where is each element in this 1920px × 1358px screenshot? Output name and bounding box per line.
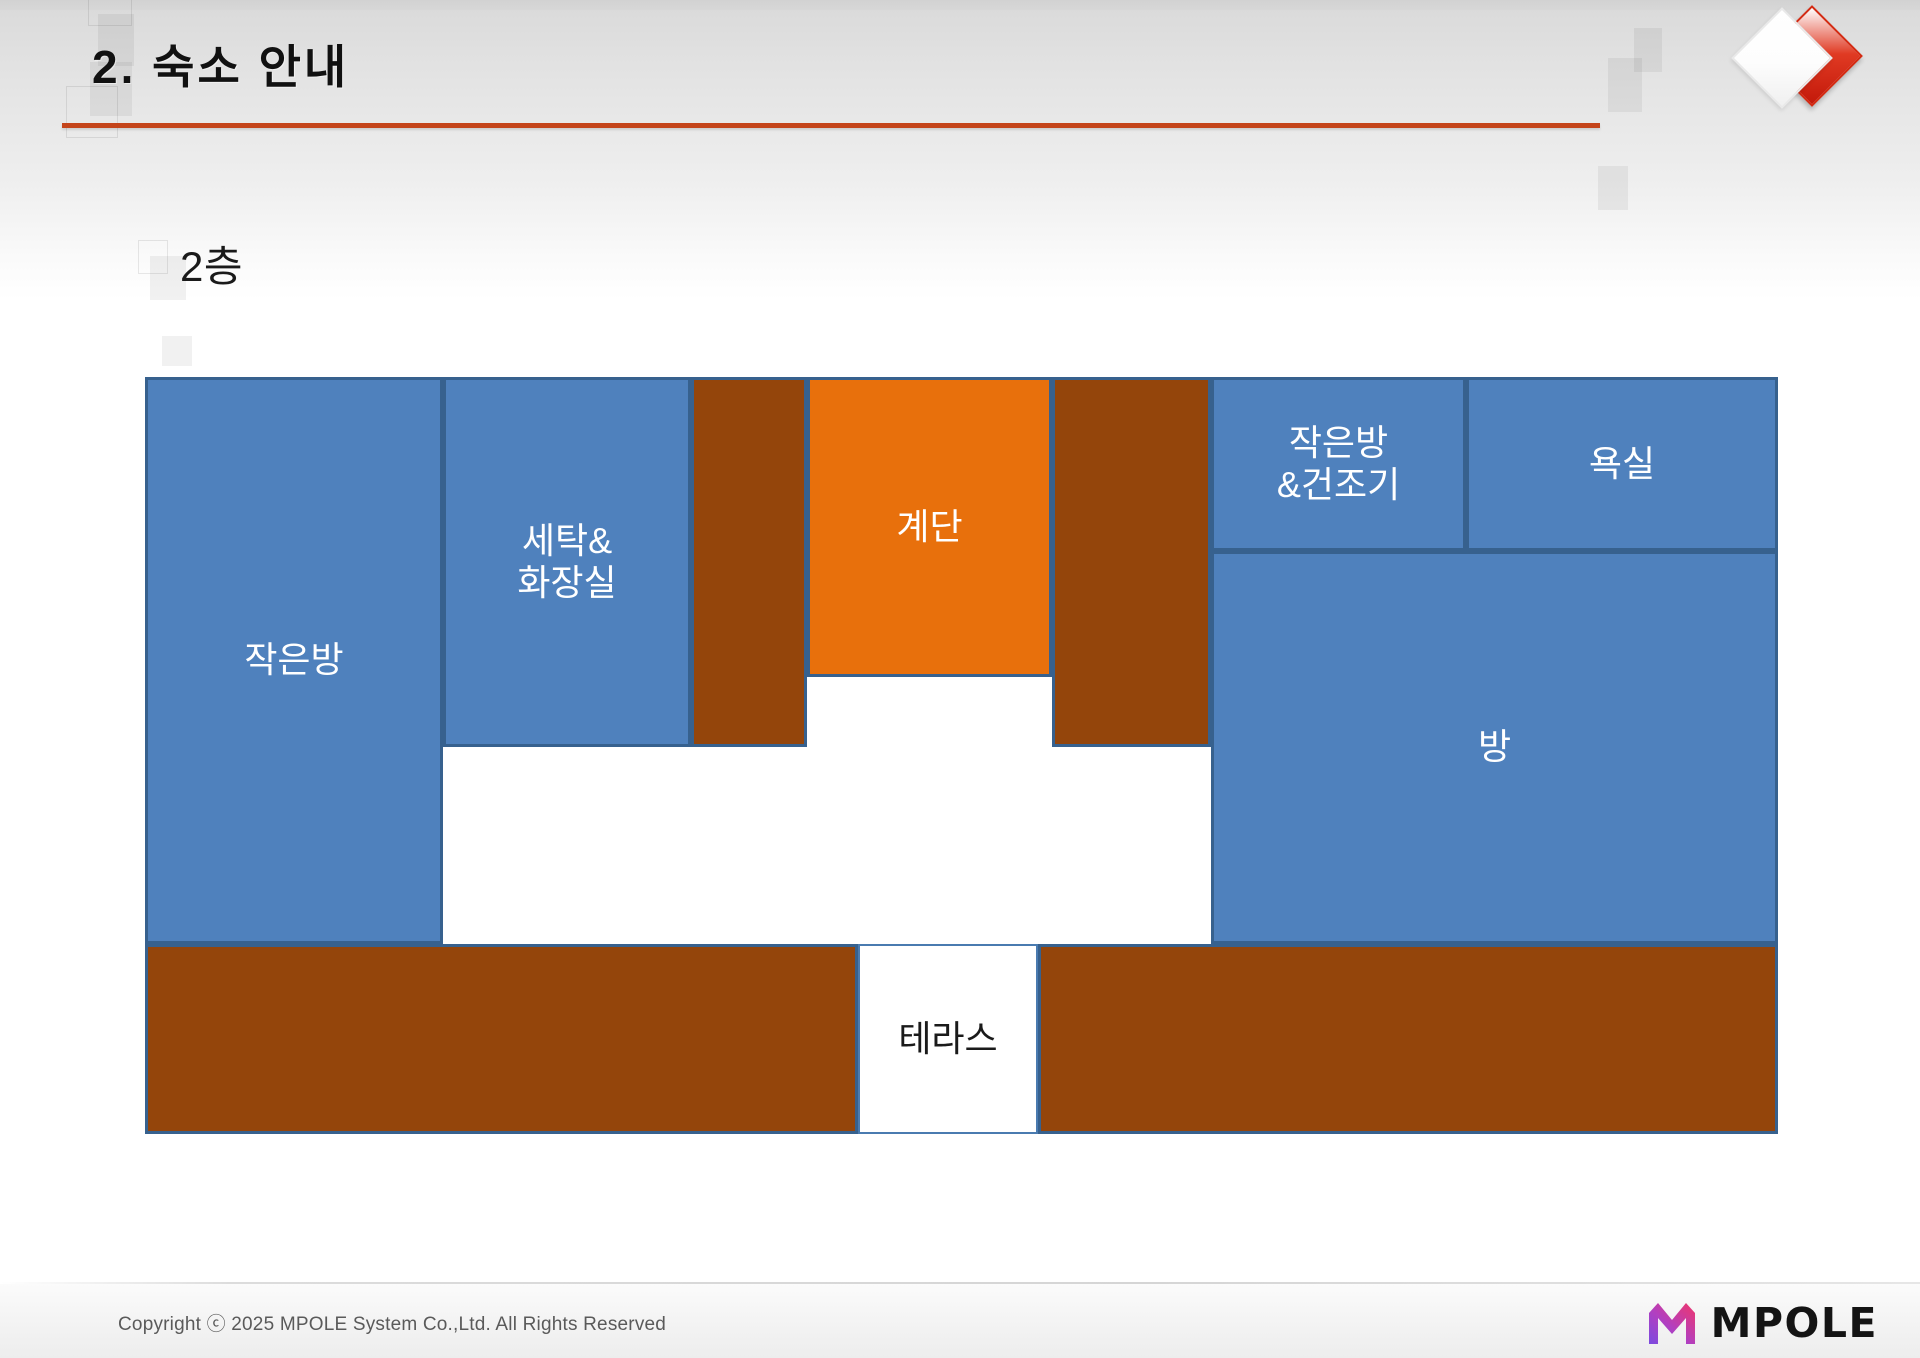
- floorplan-room-small-room-dryer: 작은방 &건조기: [1211, 377, 1466, 551]
- floorplan-room-deck-bottom-left: [145, 944, 858, 1134]
- floorplan-room-deck-bottom-right: [1038, 944, 1778, 1134]
- mpole-wordmark: MPOLE: [1711, 1299, 1878, 1347]
- floorplan-room-stairs: 계단: [807, 377, 1052, 677]
- floorplan-room-wall-strip-left: [691, 377, 807, 747]
- decorative-square-9: [162, 336, 192, 366]
- red-diamond-logo: [1740, 2, 1862, 124]
- room-label: 세탁& 화장실: [517, 520, 616, 605]
- floorplan-room-wall-strip-right: [1052, 377, 1211, 747]
- floorplan-room-main-room: 방: [1211, 551, 1778, 944]
- floorplan-room-terrace: 테라스: [858, 944, 1038, 1134]
- room-label: 방: [1478, 726, 1511, 768]
- floor-label: 2층: [180, 233, 243, 294]
- floorplan-room-bathroom: 욕실: [1466, 377, 1778, 551]
- mpole-logo: MPOLE: [1646, 1299, 1878, 1347]
- floor-plan-diagram: 작은방세탁& 화장실계단작은방 &건조기욕실방테라스: [145, 377, 1778, 1134]
- room-label: 작은방: [244, 639, 343, 681]
- header-top-edge: [0, 0, 1920, 10]
- room-label: 계단: [896, 506, 962, 548]
- copyright-text: Copyright ⓒ 2025 MPOLE System Co.,Ltd. A…: [118, 1309, 666, 1336]
- room-label: 테라스: [898, 1018, 997, 1060]
- footer-divider-rule: [0, 1282, 1920, 1284]
- title-divider-rule: [62, 123, 1600, 128]
- room-label: 욕실: [1589, 443, 1655, 485]
- mpole-m-mark-icon: [1646, 1299, 1698, 1347]
- page-title: 2. 숙소 안내: [92, 31, 349, 97]
- floorplan-room-laundry-bathroom: 세탁& 화장실: [443, 377, 691, 747]
- slide-canvas: 2. 숙소 안내 2층 작은방세탁& 화장실계단작은방 &건조기욕실방테라스 C…: [0, 0, 1920, 1358]
- floorplan-room-small-room-left: 작은방: [145, 377, 443, 944]
- room-label: 작은방 &건조기: [1277, 422, 1400, 507]
